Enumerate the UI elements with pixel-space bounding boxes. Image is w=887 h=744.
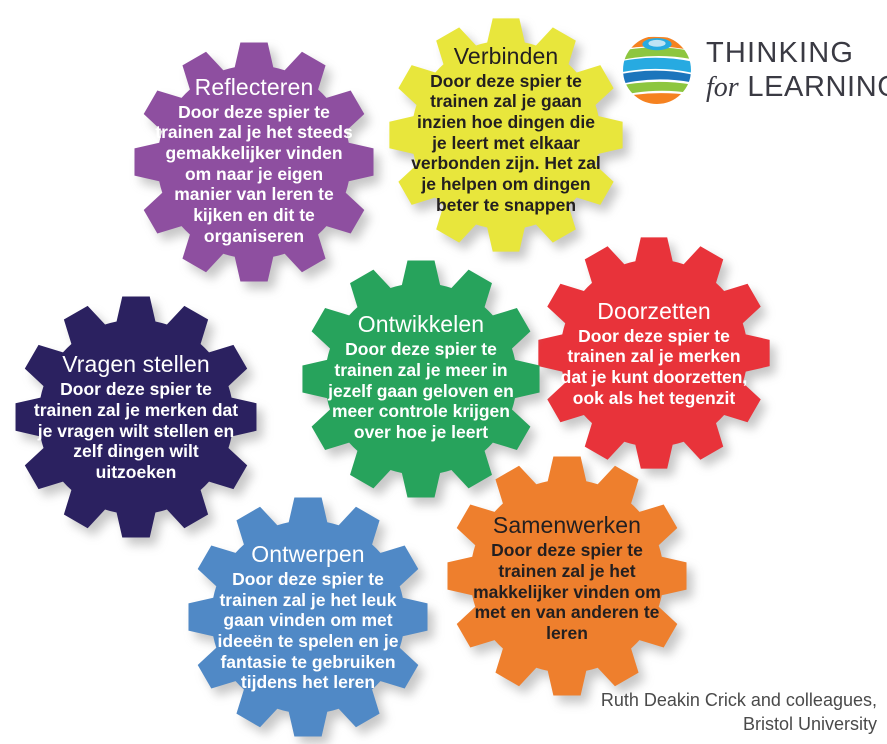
striped-globe-icon — [614, 27, 700, 113]
logo-for-word: for — [706, 72, 739, 103]
credit-line-1: Ruth Deakin Crick and colleagues, — [601, 689, 877, 712]
gear-shape-doorzetten — [534, 232, 774, 474]
gear-samenwerken[interactable]: Samenwerken Door deze spier te trainen z… — [443, 452, 691, 700]
gears-infographic: Reflecteren Door deze spier te trainen z… — [0, 0, 887, 744]
gear-reflecteren[interactable]: Reflecteren Door deze spier te trainen z… — [130, 38, 378, 286]
gear-shape-samenwerken — [443, 452, 691, 700]
credit-attribution: Ruth Deakin Crick and colleagues, Bristo… — [601, 689, 877, 736]
gear-shape-reflecteren — [130, 38, 378, 286]
credit-line-2: Bristol University — [601, 713, 877, 736]
gear-shape-ontwerpen — [184, 492, 432, 742]
thinking-for-learning-logo: THINKING for LEARNING — [614, 26, 876, 114]
logo-line-for-learning: for LEARNING — [706, 73, 887, 102]
gear-doorzetten[interactable]: Doorzetten Door deze spier te trainen za… — [534, 232, 774, 474]
gear-verbinden[interactable]: Verbinden Door deze spier te trainen zal… — [385, 10, 627, 260]
logo-line-thinking: THINKING — [706, 39, 887, 68]
gear-shape-verbinden — [385, 10, 627, 260]
gear-ontwerpen[interactable]: Ontwerpen Door deze spier te trainen zal… — [184, 492, 432, 742]
logo-learning-word: LEARNING — [739, 71, 887, 103]
logo-wordmark: THINKING for LEARNING — [706, 39, 887, 102]
